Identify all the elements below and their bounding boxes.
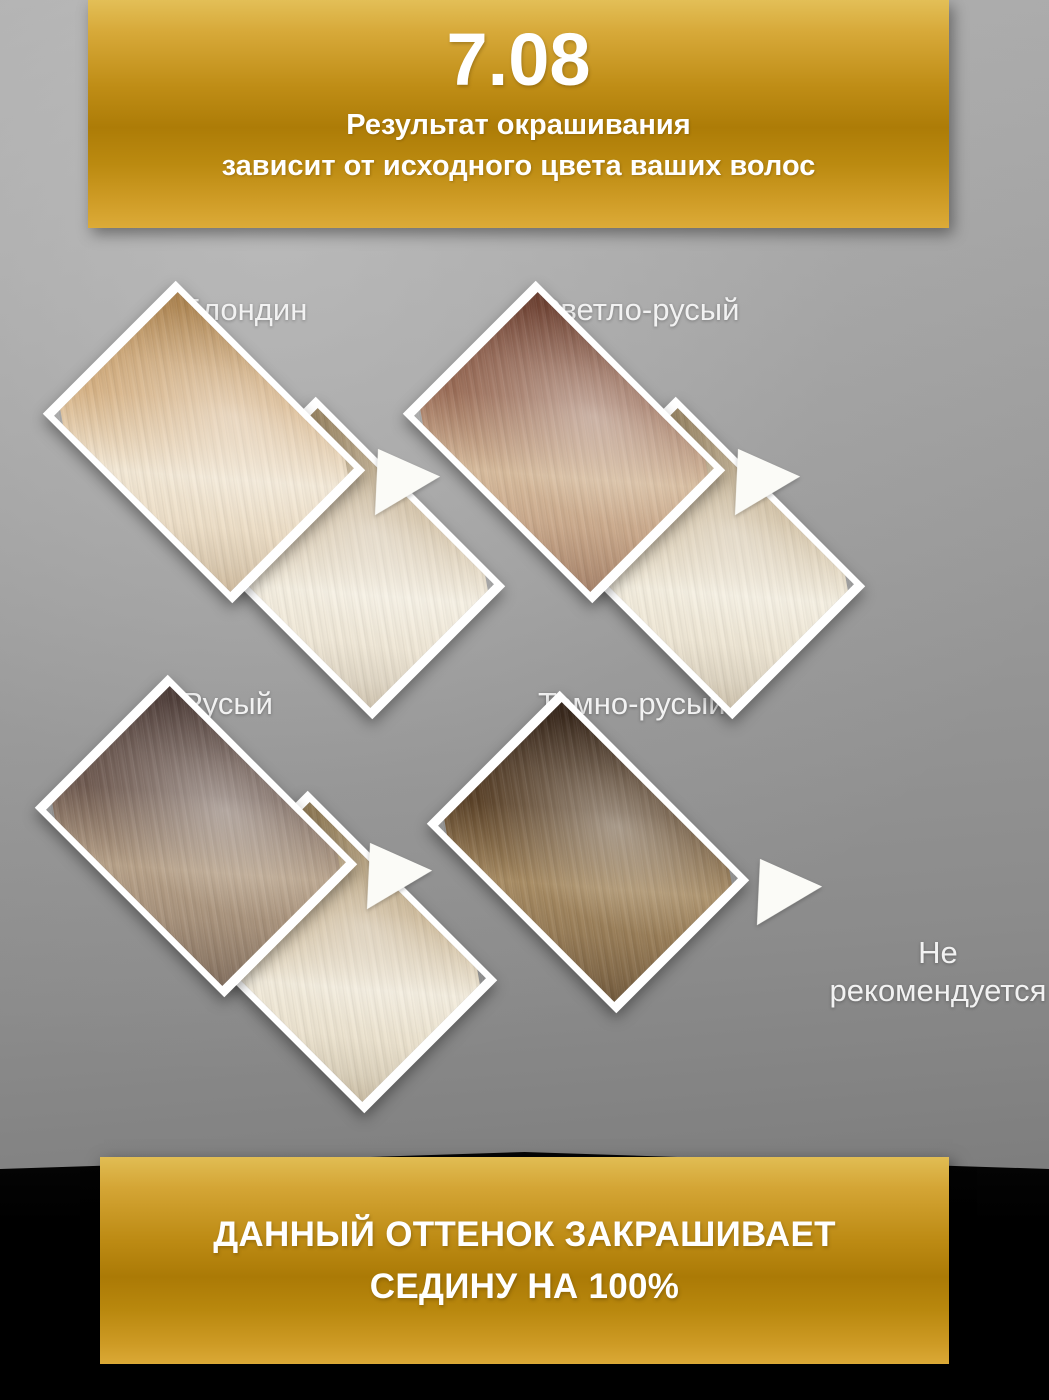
shade-code: 7.08	[446, 22, 590, 99]
swatch-grid: Блондин Светло-русый	[0, 236, 1049, 1136]
footer-line-2: СЕДИНУ НА 100%	[370, 1261, 679, 1313]
poster-canvas: 7.08 Результат окрашивания зависит от ис…	[0, 0, 1049, 1400]
header-banner: 7.08 Результат окрашивания зависит от ис…	[88, 0, 949, 228]
header-subtitle-line-1: Результат окрашивания	[346, 105, 690, 146]
footer-banner: ДАННЫЙ ОТТЕНОК ЗАКРАШИВАЕТ СЕДИНУ НА 100…	[100, 1157, 949, 1364]
not-recommended-line-2: рекомендуется	[788, 972, 1049, 1010]
header-subtitle-line-2: зависит от исходного цвета ваших волос	[222, 146, 816, 187]
swatch-cell-light-brown: Светло-русый	[440, 292, 910, 732]
not-recommended-note: Не рекомендуется	[788, 934, 1049, 1010]
footer-line-1: ДАННЫЙ ОТТЕНОК ЗАКРАШИВАЕТ	[213, 1209, 836, 1261]
not-recommended-line-1: Не	[788, 934, 1049, 972]
swatch-cell-dark-brown: Темно-русый Не рекомендуется	[440, 686, 910, 1126]
